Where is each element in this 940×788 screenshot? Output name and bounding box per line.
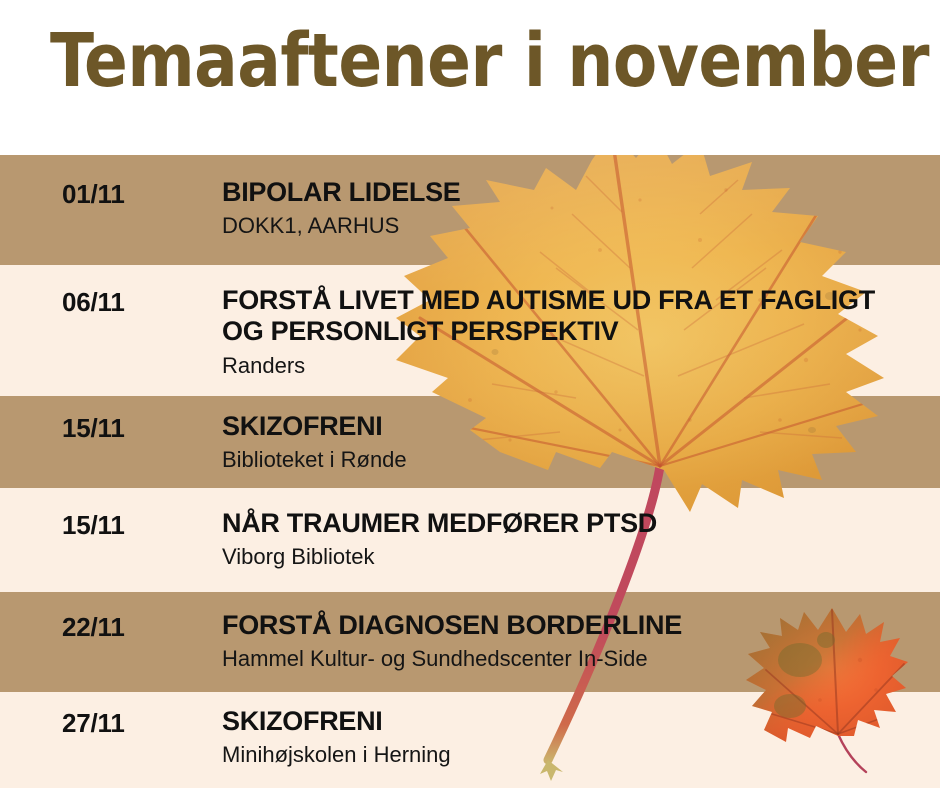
event-title: FORSTÅ DIAGNOSEN BORDERLINE xyxy=(222,610,922,641)
event-date: 01/11 xyxy=(62,179,212,210)
event-venue: Minihøjskolen i Herning xyxy=(222,742,922,768)
schedule-row[interactable]: 06/11FORSTÅ LIVET MED AUTISME UD FRA ET … xyxy=(0,265,940,396)
event-date: 06/11 xyxy=(62,287,212,318)
event-venue: Randers xyxy=(222,353,922,379)
page-title: Temaaftener i november xyxy=(50,22,929,102)
schedule-row[interactable]: 01/11BIPOLAR LIDELSEDOKK1, AARHUS xyxy=(0,155,940,265)
event-venue: DOKK1, AARHUS xyxy=(222,213,922,239)
event-date: 27/11 xyxy=(62,708,212,739)
event-title: NÅR TRAUMER MEDFØRER PTSD xyxy=(222,508,922,539)
event-date: 15/11 xyxy=(62,413,212,444)
event-body: NÅR TRAUMER MEDFØRER PTSDViborg Bibliote… xyxy=(222,508,922,571)
event-venue: Hammel Kultur- og Sundhedscenter In-Side xyxy=(222,646,922,672)
event-title: SKIZOFRENI xyxy=(222,411,922,442)
event-venue: Viborg Bibliotek xyxy=(222,544,922,570)
event-title: SKIZOFRENI xyxy=(222,706,922,737)
event-venue: Biblioteket i Rønde xyxy=(222,447,922,473)
event-date: 22/11 xyxy=(62,612,212,643)
event-date: 15/11 xyxy=(62,510,212,541)
event-body: SKIZOFRENIBiblioteket i Rønde xyxy=(222,411,922,474)
schedule-row[interactable]: 15/11NÅR TRAUMER MEDFØRER PTSDViborg Bib… xyxy=(0,488,940,592)
event-body: SKIZOFRENIMinihøjskolen i Herning xyxy=(222,706,922,769)
schedule-row[interactable]: 15/11SKIZOFRENIBiblioteket i Rønde xyxy=(0,396,940,488)
event-body: BIPOLAR LIDELSEDOKK1, AARHUS xyxy=(222,177,922,240)
event-title: FORSTÅ LIVET MED AUTISME UD FRA ET FAGLI… xyxy=(222,285,922,348)
event-title: BIPOLAR LIDELSE xyxy=(222,177,922,208)
poster-header: Temaaftener i november xyxy=(0,0,940,155)
schedule-row[interactable]: 22/11FORSTÅ DIAGNOSEN BORDERLINEHammel K… xyxy=(0,592,940,692)
event-body: FORSTÅ DIAGNOSEN BORDERLINEHammel Kultur… xyxy=(222,610,922,673)
poster-canvas: Temaaftener i november 01/11BIPOLAR LIDE… xyxy=(0,0,940,788)
event-body: FORSTÅ LIVET MED AUTISME UD FRA ET FAGLI… xyxy=(222,285,922,379)
schedule-row[interactable]: 27/11SKIZOFRENIMinihøjskolen i Herning xyxy=(0,692,940,788)
